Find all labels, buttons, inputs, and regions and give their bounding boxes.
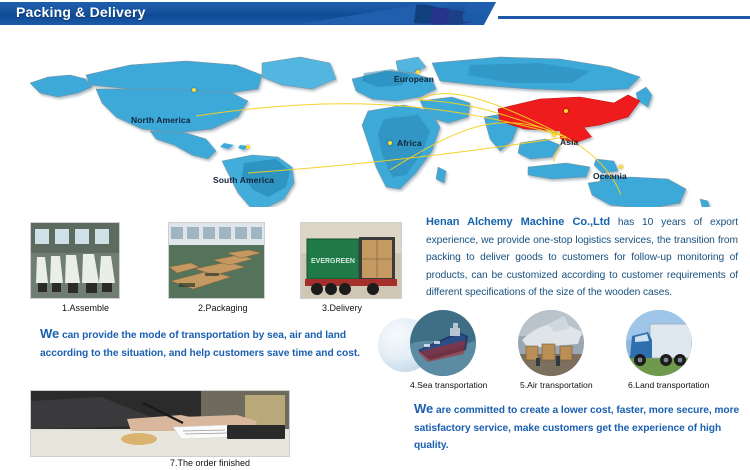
caption-packaging: 2.Packaging bbox=[198, 303, 248, 313]
transport-modes-rest: can provide the mode of transportation b… bbox=[40, 330, 360, 359]
map-label-south-america: South America bbox=[213, 175, 274, 185]
map-label-oceania: Oceania bbox=[593, 171, 627, 181]
svg-text:EVERGREEN: EVERGREEN bbox=[311, 258, 355, 265]
container-ship-icon bbox=[410, 310, 476, 376]
photo-order-finished bbox=[30, 390, 290, 457]
map-marker-south-america bbox=[246, 145, 250, 149]
delivery-photo-art: EVERGREEN bbox=[301, 223, 401, 298]
china-highlight bbox=[498, 95, 640, 131]
map-marker-european bbox=[416, 70, 420, 74]
company-intro-rest: has 10 years of export experience, we pr… bbox=[426, 217, 738, 298]
photo-delivery: EVERGREEN bbox=[300, 222, 402, 299]
map-label-africa: Africa bbox=[397, 138, 422, 148]
caption-land-transportation: 6.Land transportation bbox=[628, 380, 709, 390]
caption-sea-transportation: 4.Sea transportation bbox=[410, 380, 487, 390]
map-label-asia: Asia bbox=[560, 137, 578, 147]
ribbon-swoosh-icon bbox=[300, 0, 500, 27]
caption-assemble: 1.Assemble bbox=[62, 303, 109, 313]
map-marker-china-hub bbox=[564, 109, 568, 113]
caption-delivery: 3.Delivery bbox=[322, 303, 362, 313]
map-marker-africa bbox=[388, 141, 392, 145]
commitment-text: We are committed to create a lower cost,… bbox=[414, 400, 740, 455]
map-marker-oceania bbox=[619, 165, 623, 169]
map-label-north-america: North America bbox=[131, 115, 191, 125]
caption-order-finished: 7.The order finished bbox=[170, 458, 250, 468]
packing-delivery-page: Packing & Delivery bbox=[0, 0, 750, 470]
cargo-truck-icon bbox=[626, 310, 692, 376]
assemble-photo-art bbox=[31, 223, 119, 298]
map-landmasses bbox=[30, 57, 710, 207]
company-intro-text: Henan Alchemy Machine Co.,Ltd has 10 yea… bbox=[426, 214, 738, 302]
commitment-rest: are committed to create a lower cost, fa… bbox=[414, 405, 739, 451]
company-name: Henan Alchemy Machine Co.,Ltd bbox=[426, 216, 610, 228]
order-finished-photo-art bbox=[31, 391, 289, 456]
map-marker-asia bbox=[552, 133, 556, 137]
world-map: North America South America European Afr… bbox=[0, 27, 750, 207]
packaging-photo-art bbox=[169, 223, 264, 298]
transport-modes-lead: We bbox=[40, 326, 59, 341]
page-title: Packing & Delivery bbox=[16, 4, 146, 20]
transport-modes-text: We can provide the mode of transportatio… bbox=[40, 325, 390, 362]
commitment-lead: We bbox=[414, 401, 433, 416]
world-map-svg bbox=[0, 27, 750, 207]
caption-air-transportation: 5.Air transportation bbox=[520, 380, 593, 390]
photo-assemble bbox=[30, 222, 120, 299]
cargo-plane-icon bbox=[518, 310, 584, 376]
photo-packaging bbox=[168, 222, 265, 299]
map-label-european: European bbox=[394, 74, 434, 84]
map-marker-north-america bbox=[192, 88, 196, 92]
page-header: Packing & Delivery bbox=[0, 0, 750, 27]
header-rule bbox=[498, 16, 750, 19]
